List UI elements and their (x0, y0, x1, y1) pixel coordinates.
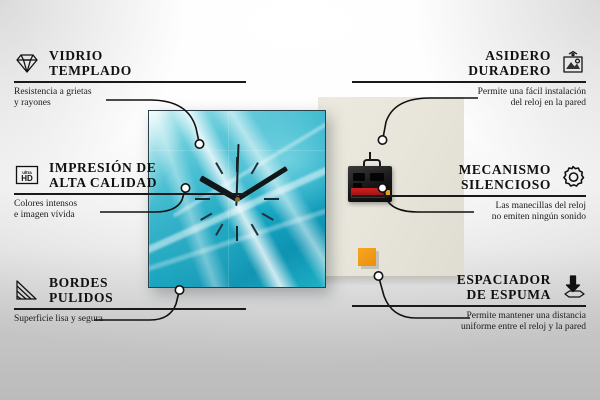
feature-impresion-alta-calidad: ultra HD IMPRESIÓN DE ALTA CALIDAD Color… (14, 160, 246, 222)
feature-asidero-duradero: ASIDERO DURADERO Permite una fácil insta… (352, 48, 586, 110)
divider (14, 81, 246, 83)
feature-description: Colores intensos e imagen vívida (14, 199, 246, 222)
feature-description: Permite mantener una distancia uniforme … (352, 311, 586, 334)
divider (352, 305, 586, 307)
feature-title: VIDRIO TEMPLADO (49, 48, 132, 78)
foam-spacer (358, 248, 376, 266)
feature-description: Superficie lisa y segura (14, 314, 246, 326)
feature-header: VIDRIO TEMPLADO (14, 48, 246, 78)
feature-title: IMPRESIÓN DE ALTA CALIDAD (49, 160, 157, 190)
feature-header: ESPACIADOR DE ESPUMA (352, 272, 586, 302)
feature-description: Permite una fácil instalación del reloj … (352, 87, 586, 110)
polished-edge-icon (14, 277, 40, 303)
feature-title: ESPACIADOR DE ESPUMA (457, 272, 551, 302)
feature-header: ASIDERO DURADERO (352, 48, 586, 78)
feature-header: ultra HD IMPRESIÓN DE ALTA CALIDAD (14, 160, 246, 190)
divider (352, 81, 586, 83)
feature-header: MECANISMO SILENCIOSO (352, 162, 586, 192)
feature-title: MECANISMO SILENCIOSO (459, 162, 551, 192)
infographic-canvas: VIDRIO TEMPLADO Resistencia a grietas y … (0, 0, 600, 400)
feature-description: Resistencia a grietas y rayones (14, 87, 246, 110)
feature-bordes-pulidos: BORDES PULIDOS Superficie lisa y segura (14, 275, 246, 325)
arrow-down-pad-icon (560, 274, 586, 300)
diamond-icon (14, 50, 40, 76)
feature-title: ASIDERO DURADERO (468, 48, 551, 78)
feature-mecanismo-silencioso: MECANISMO SILENCIOSO Las manecillas del … (352, 162, 586, 224)
divider (352, 195, 586, 197)
svg-text:HD: HD (21, 174, 33, 183)
divider (14, 193, 246, 195)
feature-description: Las manecillas del reloj no emiten ningú… (352, 201, 586, 224)
feature-title: BORDES PULIDOS (49, 275, 113, 305)
divider (14, 308, 246, 310)
hanging-frame-icon (560, 50, 586, 76)
feature-espaciador-espuma: ESPACIADOR DE ESPUMA Permite mantener un… (352, 272, 586, 334)
feature-header: BORDES PULIDOS (14, 275, 246, 305)
feature-vidrio-templado: VIDRIO TEMPLADO Resistencia a grietas y … (14, 48, 246, 110)
ultra-hd-icon: ultra HD (14, 162, 40, 188)
gear-icon (560, 164, 586, 190)
